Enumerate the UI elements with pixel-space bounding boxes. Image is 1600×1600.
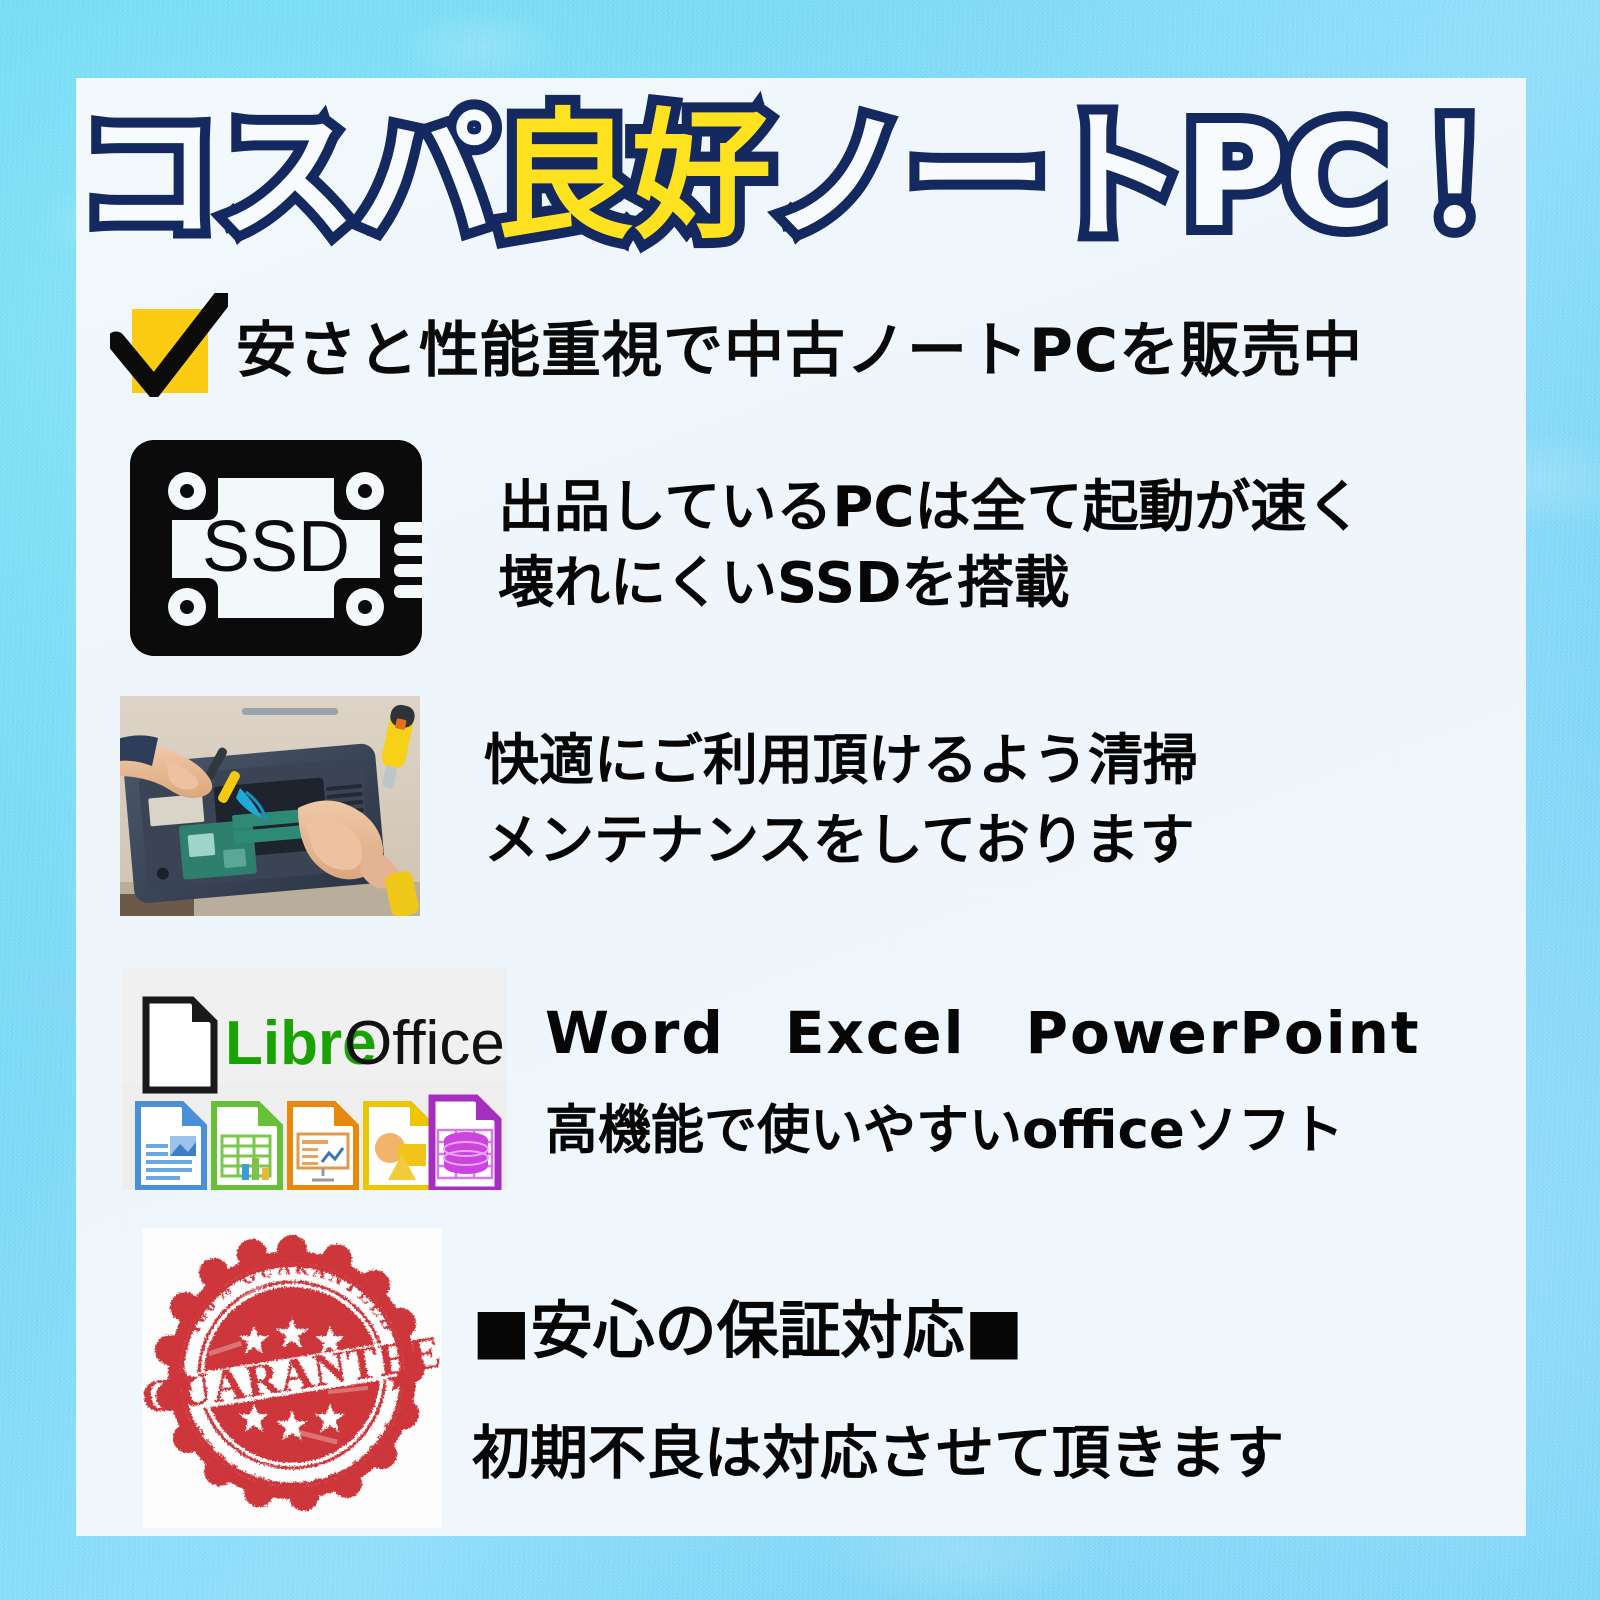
guarantee-stamp-glyph: GUARANTEE 100% GUARANTEED 100% GUARANTEE… xyxy=(142,1228,442,1528)
impress-icon xyxy=(290,1104,356,1188)
office-word: Office xyxy=(344,1009,505,1078)
libreoffice-logo: Libre Office xyxy=(122,968,507,1190)
maintenance-copy: 快適にご利用頂けるよう清掃 メンテナンスをしております xyxy=(484,720,1198,881)
title-highlight: 良好 xyxy=(493,96,769,259)
writer-icon xyxy=(138,1104,204,1188)
content-card: コスパ良好ノートPC！ 安さと性能重視で中古ノートPCを販売中 xyxy=(76,78,1526,1536)
libreoffice-logo-glyph: Libre Office xyxy=(122,968,507,1190)
feature-row-maintenance: 快適にご利用頂けるよう清掃 メンテナンスをしております xyxy=(120,696,1510,916)
headline-text: 安さと性能重視で中古ノートPCを販売中 xyxy=(236,302,1363,389)
base-icon xyxy=(432,1098,498,1190)
calc-icon xyxy=(214,1104,280,1188)
ssd-line-2: 壊れにくいSSDを搭載 xyxy=(498,546,1362,622)
office-copy: Word Excel PowerPoint 高機能で使いやすいofficeソフト xyxy=(545,986,1421,1164)
office-line-1: Word Excel PowerPoint xyxy=(545,986,1421,1070)
feature-row-office: Libre Office xyxy=(122,968,1522,1190)
page-title: コスパ良好ノートPC！ xyxy=(76,108,1526,248)
guarantee-line-2: 初期不良は対応させて頂きます xyxy=(472,1406,1284,1490)
ssd-icon-glyph: SSD xyxy=(128,438,448,658)
ssd-icon-label: SSD xyxy=(202,507,350,587)
maintenance-line-2: メンテナンスをしております xyxy=(484,800,1198,880)
ssd-line-1: 出品しているPCは全て起動が速く xyxy=(498,470,1362,546)
title-part2: ノートPC！ xyxy=(769,96,1522,259)
headline-row: 安さと性能重視で中古ノートPCを販売中 xyxy=(110,290,1510,400)
title-text: コスパ良好ノートPC！ xyxy=(79,108,1522,248)
office-line-2: 高機能で使いやすいofficeソフト xyxy=(545,1088,1421,1164)
laptop-repair-photo xyxy=(120,696,420,916)
feature-row-guarantee: GUARANTEE 100% GUARANTEED 100% GUARANTEE… xyxy=(142,1228,1522,1528)
checkmark-glyph xyxy=(110,293,228,397)
draw-icon xyxy=(366,1104,432,1188)
feature-row-ssd: SSD 出品しているPCは全て起動が速く 壊れにくいSSDを搭載 xyxy=(128,438,1508,663)
maintenance-line-1: 快適にご利用頂けるよう清掃 xyxy=(484,720,1198,800)
laptop-repair-illustration xyxy=(120,696,420,916)
poster-root: コスパ良好ノートPC！ 安さと性能重視で中古ノートPCを販売中 xyxy=(0,0,1600,1600)
guarantee-copy: ■安心の保証対応■ 初期不良は対応させて頂きます xyxy=(472,1280,1284,1490)
guarantee-line-1: ■安心の保証対応■ xyxy=(472,1280,1284,1370)
ssd-copy: 出品しているPCは全て起動が速く 壊れにくいSSDを搭載 xyxy=(498,470,1362,622)
ssd-drive-icon: SSD xyxy=(128,438,448,663)
title-part1: コスパ xyxy=(79,96,493,259)
yellow-check-icon xyxy=(110,293,228,397)
guarantee-stamp: GUARANTEE 100% GUARANTEED 100% GUARANTEE… xyxy=(142,1228,442,1528)
